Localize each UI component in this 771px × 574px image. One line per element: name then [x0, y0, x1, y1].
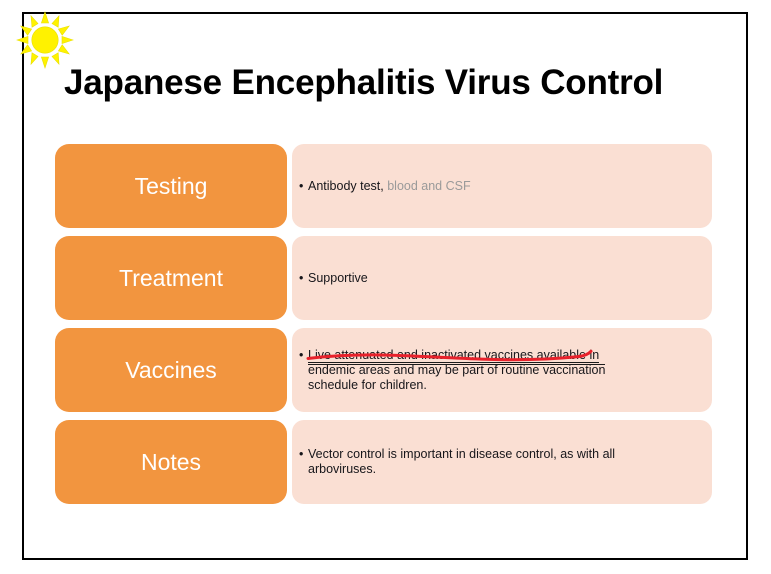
bullet-dot-icon: •	[299, 348, 303, 363]
row-body-box-testing[interactable]: •Antibody test, blood and CSF	[292, 144, 712, 228]
row-body-text: •Supportive	[292, 271, 712, 286]
bullet-line: •Supportive	[308, 271, 700, 286]
bullet-dot-icon: •	[299, 179, 303, 194]
row-label-text: Treatment	[119, 264, 223, 292]
row-body-text: •Vector control is important in disease …	[292, 447, 712, 477]
row-label-text: Notes	[141, 448, 201, 476]
bullet-line: •Vector control is important in disease …	[308, 447, 700, 462]
row-body-box-treatment[interactable]: •Supportive	[292, 236, 712, 320]
text-segment: Antibody test,	[308, 179, 384, 193]
row-label-box-testing[interactable]: Testing	[55, 144, 287, 228]
bullet-line: endemic areas and may be part of routine…	[308, 363, 700, 378]
text-segment: blood and CSF	[384, 179, 471, 193]
content-row: Notes•Vector control is important in dis…	[0, 420, 771, 504]
content-row: Testing•Antibody test, blood and CSF	[0, 144, 771, 228]
bullet-line: •Live attenuated and inactivated vaccine…	[308, 348, 700, 363]
slide-canvas: Japanese Encephalitis Virus Control Test…	[0, 0, 771, 574]
row-body-box-vaccines[interactable]: •Live attenuated and inactivated vaccine…	[292, 328, 712, 412]
text-segment: endemic areas and may be part of routine…	[308, 363, 605, 377]
bullet-line: •Antibody test, blood and CSF	[308, 179, 700, 194]
row-body-text: •Antibody test, blood and CSF	[292, 179, 712, 194]
row-label-box-notes[interactable]: Notes	[55, 420, 287, 504]
content-rows: Testing•Antibody test, blood and CSFTrea…	[0, 0, 771, 574]
bullet-line: arboviruses.	[308, 462, 700, 477]
bullet-dot-icon: •	[299, 447, 303, 462]
row-label-text: Vaccines	[125, 356, 217, 384]
row-label-box-treatment[interactable]: Treatment	[55, 236, 287, 320]
text-segment: arboviruses.	[308, 462, 376, 476]
row-body-text: •Live attenuated and inactivated vaccine…	[292, 348, 712, 393]
content-row: Vaccines•Live attenuated and inactivated…	[0, 328, 771, 412]
text-segment: schedule for children.	[308, 378, 427, 392]
text-segment: Live attenuated and inactivated vaccines…	[308, 348, 599, 363]
bullet-line: schedule for children.	[308, 378, 700, 393]
text-segment: Vector control is important in disease c…	[308, 447, 615, 461]
content-row: Treatment•Supportive	[0, 236, 771, 320]
bullet-dot-icon: •	[299, 271, 303, 286]
row-label-box-vaccines[interactable]: Vaccines	[55, 328, 287, 412]
row-label-text: Testing	[135, 172, 208, 200]
row-body-box-notes[interactable]: •Vector control is important in disease …	[292, 420, 712, 504]
text-segment: Supportive	[308, 271, 368, 285]
